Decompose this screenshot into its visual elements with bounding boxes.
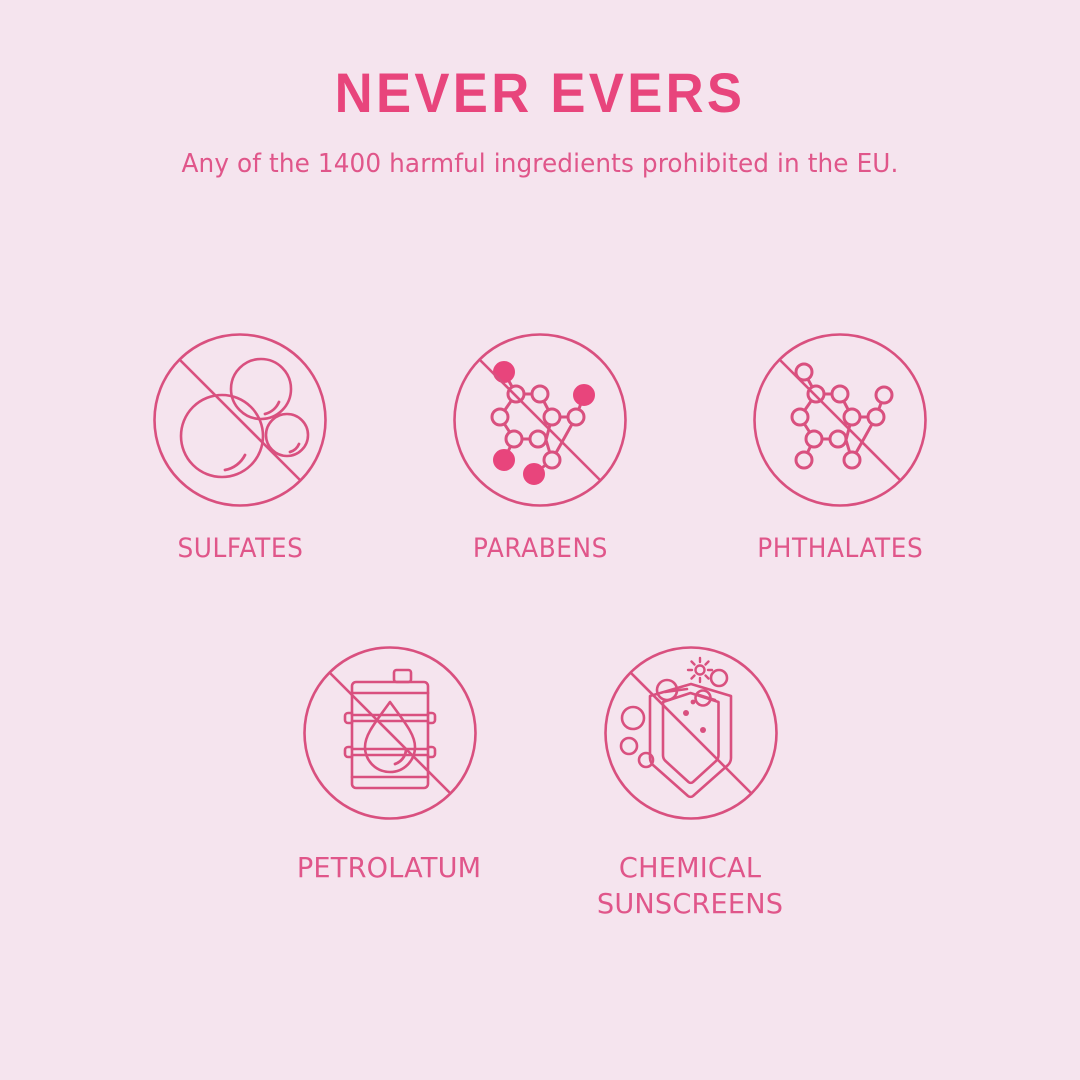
ingredient-row-bottom: PETROLATUM: [0, 645, 1080, 922]
ingredient-label-petrolatum: PETROLATUM: [297, 850, 481, 886]
no-phthalates-molecule-icon: [752, 332, 928, 508]
ingredient-label-phthalates: PHTHALATES: [757, 532, 923, 567]
no-sulfates-bubbles-icon: [152, 332, 328, 508]
page-title: NEVER EVERS: [32, 64, 1047, 123]
no-chemical-sunscreens-shield-icon: [603, 645, 779, 821]
ingredient-item-phthalates: PHTHALATES: [690, 332, 990, 567]
ingredient-label-chemical-sunscreens: CHEMICAL SUNSCREENS: [597, 850, 783, 922]
no-parabens-molecule-icon: [452, 332, 628, 508]
ingredient-row-top: SULFATES: [0, 332, 1080, 567]
ingredient-label-parabens: PARABENS: [472, 532, 607, 567]
ingredient-label-sulfates: SULFATES: [177, 532, 303, 567]
header: NEVER EVERS Any of the 1400 harmful ingr…: [0, 64, 1080, 181]
ingredient-item-chemical-sunscreens: CHEMICAL SUNSCREENS: [540, 645, 841, 922]
ingredient-item-sulfates: SULFATES: [90, 332, 390, 567]
no-petrolatum-oil-barrel-icon: [302, 645, 478, 821]
ingredient-item-parabens: PARABENS: [390, 332, 690, 567]
page-subtitle: Any of the 1400 harmful ingredients proh…: [16, 149, 1064, 181]
ingredient-item-petrolatum: PETROLATUM: [239, 645, 540, 922]
never-evers-infographic: NEVER EVERS Any of the 1400 harmful ingr…: [0, 0, 1080, 1080]
